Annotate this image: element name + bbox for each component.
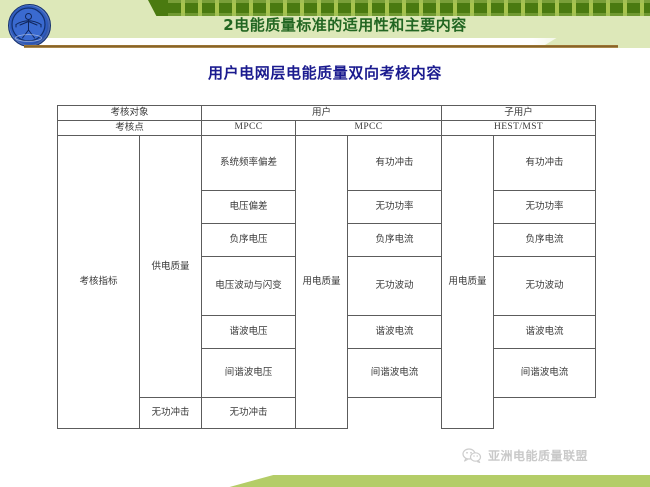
table-row: 考核指标 供电质量 系统频率偏差 用电质量 有功冲击 用电质量 有功冲击: [58, 136, 596, 191]
usage-item-3: 无功波动: [348, 257, 442, 316]
bottom-accent-bar-fill: [212, 475, 650, 487]
supply-item-4: 谐波电压: [202, 316, 296, 349]
header-mpcc-usage: MPCC: [296, 121, 442, 136]
sub-usage-item-2: 负序电流: [494, 224, 596, 257]
sub-usage-item-3: 无功波动: [494, 257, 596, 316]
usage-item-4: 谐波电流: [348, 316, 442, 349]
supply-item-2: 负序电压: [202, 224, 296, 257]
quality-assessment-table-wrap: 考核对象 用户 子用户 考核点 MPCC MPCC HEST/MST 考核指标 …: [57, 105, 595, 429]
sub-usage-item-1: 无功功率: [494, 191, 596, 224]
header-mpcc-supply: MPCC: [202, 121, 296, 136]
group-label-usage-quality: 用电质量: [296, 136, 348, 429]
header-hest-mst: HEST/MST: [442, 121, 596, 136]
quality-assessment-table: 考核对象 用户 子用户 考核点 MPCC MPCC HEST/MST 考核指标 …: [57, 105, 596, 429]
sub-usage-item-0: 有功冲击: [494, 136, 596, 191]
supply-item-0: 系统频率偏差: [202, 136, 296, 191]
usage-item-6: 无功冲击: [140, 398, 202, 429]
usage-item-0: 有功冲击: [348, 136, 442, 191]
sub-usage-item-5: 间谐波电流: [494, 349, 596, 398]
table-row: 考核对象 用户 子用户: [58, 106, 596, 121]
header-user-label: 用户: [202, 106, 442, 121]
slide-canvas: 2电能质量标准的适用性和主要内容 用户电网层电能质量双向考核内容 考核对象 用户…: [0, 0, 650, 487]
group-label-sub-usage-quality: 用电质量: [442, 136, 494, 429]
table-row: 考核点 MPCC MPCC HEST/MST: [58, 121, 596, 136]
usage-item-5: 间谐波电流: [348, 349, 442, 398]
header-assessment-point-label: 考核点: [58, 121, 202, 136]
page-title: 2电能质量标准的适用性和主要内容: [0, 14, 650, 35]
wechat-icon: [462, 448, 482, 463]
metric-label: 考核指标: [58, 136, 140, 429]
section-subtitle: 用户电网层电能质量双向考核内容: [0, 62, 650, 83]
group-label-supply-quality: 供电质量: [140, 136, 202, 398]
header-subuser-label: 子用户: [442, 106, 596, 121]
sub-usage-item-6: 无功冲击: [202, 398, 296, 429]
header-divider: [24, 45, 618, 48]
header-assessment-target-label: 考核对象: [58, 106, 202, 121]
usage-item-1: 无功功率: [348, 191, 442, 224]
watermark-label: 亚洲电能质量联盟: [488, 447, 588, 464]
usage-item-2: 负序电流: [348, 224, 442, 257]
footer-watermark: 亚洲电能质量联盟: [462, 447, 588, 464]
supply-item-3: 电压波动与闪变: [202, 257, 296, 316]
bottom-accent-bar: [0, 473, 650, 487]
supply-item-5: 间谐波电压: [202, 349, 296, 398]
sub-usage-item-4: 谐波电流: [494, 316, 596, 349]
supply-item-1: 电压偏差: [202, 191, 296, 224]
